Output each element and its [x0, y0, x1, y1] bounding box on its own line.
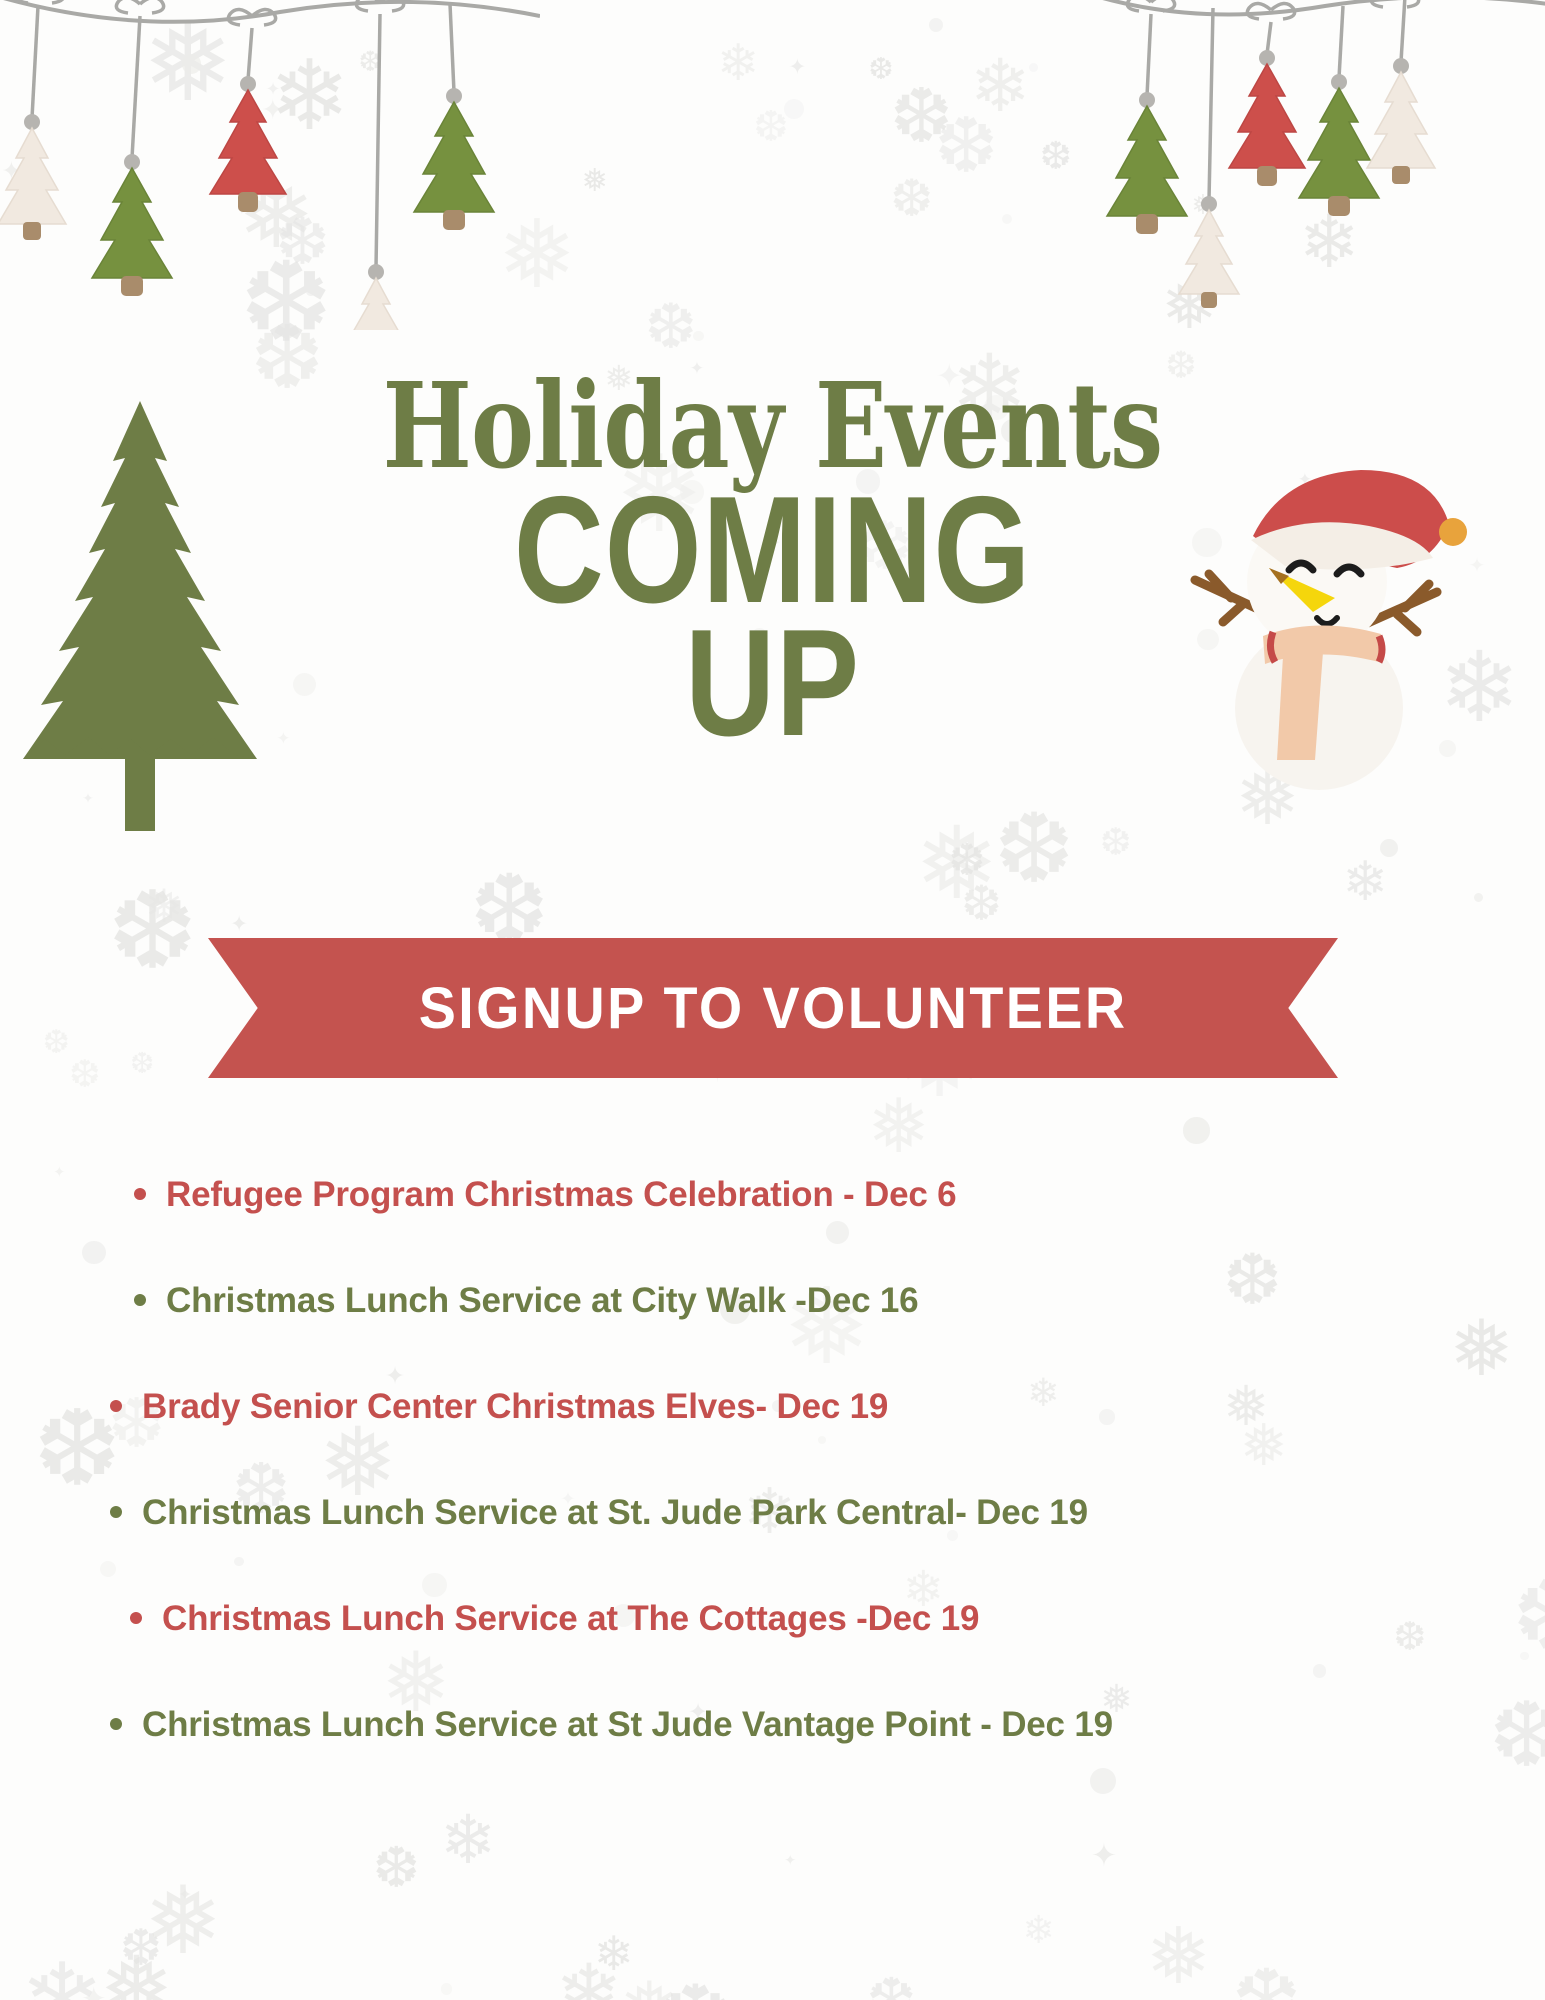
snow-dot-icon	[1474, 893, 1483, 902]
headline-line-up: UP	[139, 615, 1406, 752]
snowflake-icon: ❅	[1449, 1311, 1514, 1389]
snowflake-icon: ❄	[1022, 1912, 1054, 1950]
snowflake-icon: ❆	[890, 173, 933, 225]
snowflake-icon: ❆	[961, 880, 1002, 928]
snow-dot-icon	[82, 1241, 105, 1264]
sparkle-icon: ✦	[53, 1165, 66, 1180]
sparkle-icon: ✦	[1091, 1840, 1117, 1871]
snow-dot-icon	[441, 1983, 453, 1995]
signup-banner-label: SIGNUP TO VOLUNTEER	[419, 975, 1128, 1042]
garland-right-ornaments-icon	[1075, 0, 1545, 330]
sparkle-icon: ✦	[81, 1983, 107, 2000]
snowflake-icon: ❄	[20, 1951, 105, 2000]
event-label: Christmas Lunch Service at The Cottages …	[162, 1599, 979, 1639]
snowflake-icon: ❆	[373, 1841, 421, 1898]
event-list-item: Christmas Lunch Service at St Jude Vanta…	[110, 1705, 1450, 1745]
event-list: Refugee Program Christmas Celebration - …	[110, 1175, 1450, 1811]
signup-banner[interactable]: SIGNUP TO VOLUNTEER	[208, 938, 1338, 1078]
snowflake-icon: ❄	[594, 1931, 634, 1978]
snowflake-icon: ❅	[867, 1089, 930, 1164]
snowflake-icon: ❆	[1231, 1958, 1302, 2000]
snowflake-icon: ❆	[645, 296, 698, 359]
event-list-item: Christmas Lunch Service at St. Jude Park…	[110, 1493, 1450, 1533]
snow-dot-icon	[1002, 214, 1012, 224]
event-list-item: Christmas Lunch Service at City Walk -De…	[110, 1281, 1450, 1321]
sparkle-icon: ✦	[230, 914, 248, 935]
snowflake-icon: ❆	[33, 1397, 122, 1503]
sparkle-icon: ✦	[788, 56, 806, 78]
holiday-events-poster: ❆❄❆❆❆❆❅❆❅❄❆❄❆❄❆❄❆❅❅❄❆❅❄❆❆❄❅❆❅❅❆❅❆❄❄❅❆❆❆❆…	[0, 0, 1545, 2000]
event-label: Christmas Lunch Service at St. Jude Park…	[142, 1493, 1088, 1533]
snowflake-icon: ❆	[868, 55, 893, 85]
snow-dot-icon	[693, 331, 704, 342]
bullet-icon	[130, 1612, 142, 1624]
bullet-icon	[134, 1294, 146, 1306]
snow-dot-icon	[1029, 63, 1039, 73]
event-label: Brady Senior Center Christmas Elves- Dec…	[142, 1387, 888, 1427]
event-label: Christmas Lunch Service at City Walk -De…	[166, 1281, 918, 1321]
event-list-item: Refugee Program Christmas Celebration - …	[110, 1175, 1450, 1215]
event-label: Christmas Lunch Service at St Jude Vanta…	[142, 1705, 1113, 1745]
snowflake-icon: ❅	[99, 1946, 174, 2000]
event-list-item: Brady Senior Center Christmas Elves- Dec…	[110, 1387, 1450, 1427]
bullet-icon	[134, 1188, 146, 1200]
snow-dot-icon	[929, 18, 943, 32]
poster-headline: Holiday Events COMING UP	[0, 372, 1545, 752]
snowflake-icon: ❆	[43, 1026, 70, 1058]
snowflake-icon: ❆	[994, 802, 1075, 898]
snowflake-icon: ❆	[948, 839, 985, 883]
snowflake-icon: ❄	[1342, 854, 1388, 909]
snowflake-icon: ❅	[1146, 1918, 1211, 1996]
snow-dot-icon	[784, 99, 804, 119]
snowflake-icon: ❄	[555, 1954, 623, 2000]
snowflake-icon: ❆	[1100, 824, 1132, 862]
snowflake-icon: ❆	[866, 1970, 917, 2000]
bullet-icon	[110, 1718, 122, 1730]
snowflake-icon: ❆	[69, 1056, 101, 1094]
snowflake-icon: ❅	[145, 883, 184, 929]
snow-dot-icon	[1520, 1652, 1529, 1661]
snowflake-icon: ❅	[915, 814, 999, 914]
snowflake-icon: ❄	[440, 1807, 497, 1875]
snowflake-icon: ❄	[970, 51, 1031, 124]
garland-left-ornaments-icon	[0, 0, 540, 330]
snowflake-icon: ❅	[582, 165, 608, 197]
bullet-icon	[110, 1506, 122, 1518]
snowflake-icon: ❆	[753, 106, 789, 149]
bullet-icon	[110, 1400, 122, 1412]
snowflake-icon: ❅	[144, 1874, 223, 1968]
sparkle-icon: ✦	[178, 1887, 192, 1903]
snowflake-icon: ❆	[934, 109, 998, 185]
snowflake-icon: ❆	[1512, 1566, 1545, 1665]
headline-line-coming: COMING	[139, 481, 1406, 616]
snowflake-icon: ❄	[717, 38, 759, 89]
sparkle-icon: ✦	[784, 1854, 796, 1869]
snowflake-icon: ❆	[1040, 138, 1072, 176]
event-list-item: Christmas Lunch Service at The Cottages …	[110, 1599, 1450, 1639]
signup-banner-shape: SIGNUP TO VOLUNTEER	[208, 938, 1338, 1078]
snowflake-icon: ❆	[107, 877, 198, 985]
snowflake-icon: ❆	[890, 80, 953, 156]
snowflake-icon: ❅	[619, 1973, 679, 2000]
snowflake-icon: ❆	[130, 1050, 154, 1079]
event-label: Refugee Program Christmas Celebration - …	[166, 1175, 956, 1215]
snow-dot-icon	[1380, 839, 1398, 857]
snowflake-icon: ❆	[1489, 1692, 1545, 1782]
snowflake-icon: ❆	[120, 1923, 162, 1974]
snow-dot-icon	[1183, 1117, 1209, 1143]
snowflake-icon: ❆	[656, 1973, 735, 2000]
